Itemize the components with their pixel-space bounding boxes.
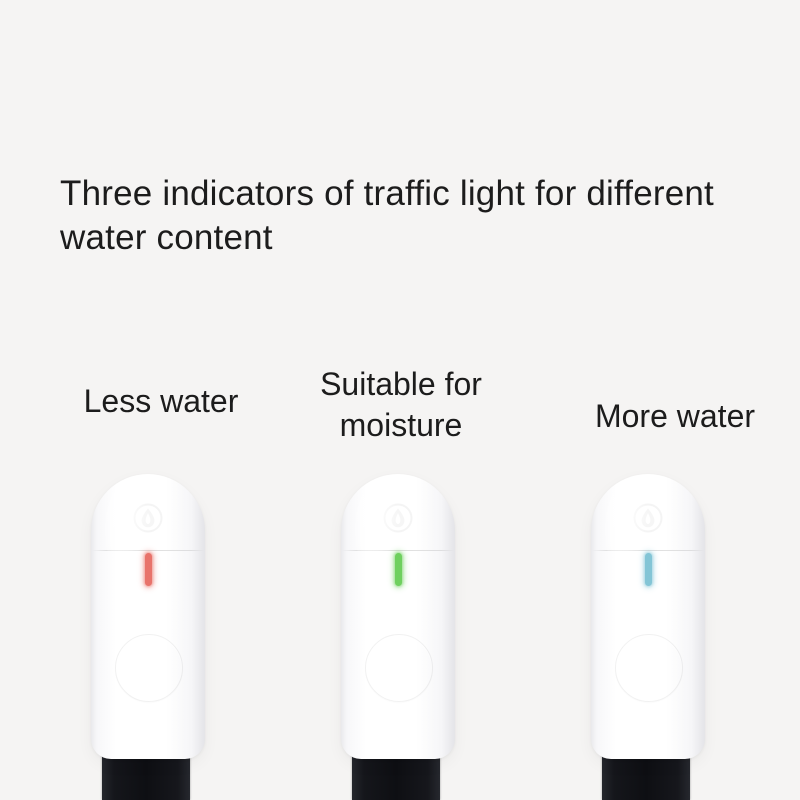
moisture-meter-device-3 xyxy=(591,474,705,800)
power-button-icon[interactable] xyxy=(115,634,183,702)
body-seam xyxy=(342,550,454,551)
power-button-icon[interactable] xyxy=(615,634,683,702)
water-drop-icon xyxy=(382,502,414,534)
body-seam xyxy=(592,550,704,551)
body-seam xyxy=(92,550,204,551)
device-label-suitable-for-moisture: Suitable for moisture xyxy=(298,364,504,446)
water-drop-icon xyxy=(132,502,164,534)
status-indicator-led xyxy=(645,553,652,586)
power-button-icon[interactable] xyxy=(365,634,433,702)
page-title: Three indicators of traffic light for di… xyxy=(60,172,780,260)
moisture-meter-device-2 xyxy=(341,474,455,800)
water-drop-icon xyxy=(632,502,664,534)
product-infographic: Three indicators of traffic light for di… xyxy=(0,0,800,800)
device-body xyxy=(341,474,455,759)
device-body xyxy=(91,474,205,759)
device-body xyxy=(591,474,705,759)
status-indicator-led xyxy=(395,553,402,586)
status-indicator-led xyxy=(145,553,152,586)
moisture-meter-device-1 xyxy=(91,474,205,800)
device-label-less-water: Less water xyxy=(46,381,276,422)
device-label-more-water: More water xyxy=(560,396,790,437)
